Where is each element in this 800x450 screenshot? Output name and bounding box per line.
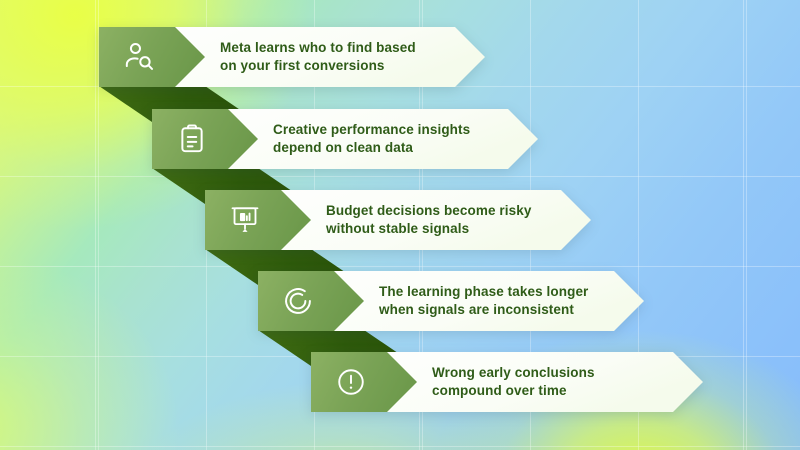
infographic-canvas: Meta learns who to find based on your fi… <box>0 0 800 450</box>
step-2-text: Creative performance insights depend on … <box>273 121 470 157</box>
alert-exclamation-circle-icon <box>334 365 368 399</box>
step-4-icon-tile[interactable] <box>258 271 364 331</box>
user-search-icon <box>122 40 156 74</box>
step-3-icon-tile[interactable] <box>205 190 311 250</box>
step-5-icon-tile[interactable] <box>311 352 417 412</box>
clipboard-icon <box>175 122 209 156</box>
step-4-text: The learning phase takes longer when sig… <box>379 283 588 319</box>
step-5-text: Wrong early conclusions compound over ti… <box>432 364 595 400</box>
step-3-text: Budget decisions become risky without st… <box>326 202 531 238</box>
step-1-text: Meta learns who to find based on your fi… <box>220 39 416 75</box>
step-2-icon-tile[interactable] <box>152 109 258 169</box>
step-1-icon-tile[interactable] <box>99 27 205 87</box>
presentation-chart-dollar-icon <box>228 203 262 237</box>
loading-spiral-icon <box>281 284 315 318</box>
